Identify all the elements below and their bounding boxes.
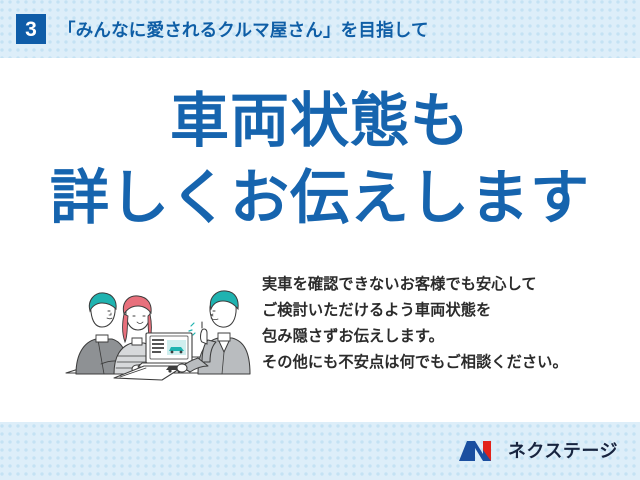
banner-header: 3 「みんなに愛されるクルマ屋さん」を目指して xyxy=(0,0,640,58)
body-copy-line-4: その他にも不安点は何でもご相談ください。 xyxy=(262,350,614,376)
headline-line-1: 車両状態も xyxy=(0,88,640,155)
headline: 車両状態も 詳しくお伝えします xyxy=(0,88,640,233)
brand-logo: ネクステージ xyxy=(457,438,618,464)
body-copy-line-3: 包み隠さずお伝えします。 xyxy=(262,324,614,350)
banner-footer: ネクステージ xyxy=(0,422,640,480)
brand-name: ネクステージ xyxy=(508,442,618,460)
lower-section: .ln { fill:none; stroke:#3c3c3c; stroke-… xyxy=(0,270,640,420)
nextage-n-logo-icon xyxy=(457,438,501,464)
headline-line-2: 詳しくお伝えします xyxy=(0,165,640,232)
content-panel: 車両状態も 詳しくお伝えします .ln { fill:none; stroke:… xyxy=(0,58,640,422)
header-title: 「みんなに愛されるクルマ屋さん」を目指して xyxy=(58,17,429,42)
body-copy-line-2: ご検討いただけるよう車両状態を xyxy=(262,298,614,324)
body-copy-line-1: 実車を確認できないお客様でも安心して xyxy=(262,272,614,298)
body-copy: 実車を確認できないお客様でも安心して ご検討いただけるよう車両状態を 包み隠さず… xyxy=(262,272,614,377)
step-number-badge: 3 xyxy=(16,14,46,44)
promo-banner: 3 「みんなに愛されるクルマ屋さん」を目指して 車両状態も 詳しくお伝えします … xyxy=(0,0,640,480)
consultation-illustration-svg: .ln { fill:none; stroke:#3c3c3c; stroke-… xyxy=(58,278,254,398)
consultation-illustration: .ln { fill:none; stroke:#3c3c3c; stroke-… xyxy=(58,278,254,398)
